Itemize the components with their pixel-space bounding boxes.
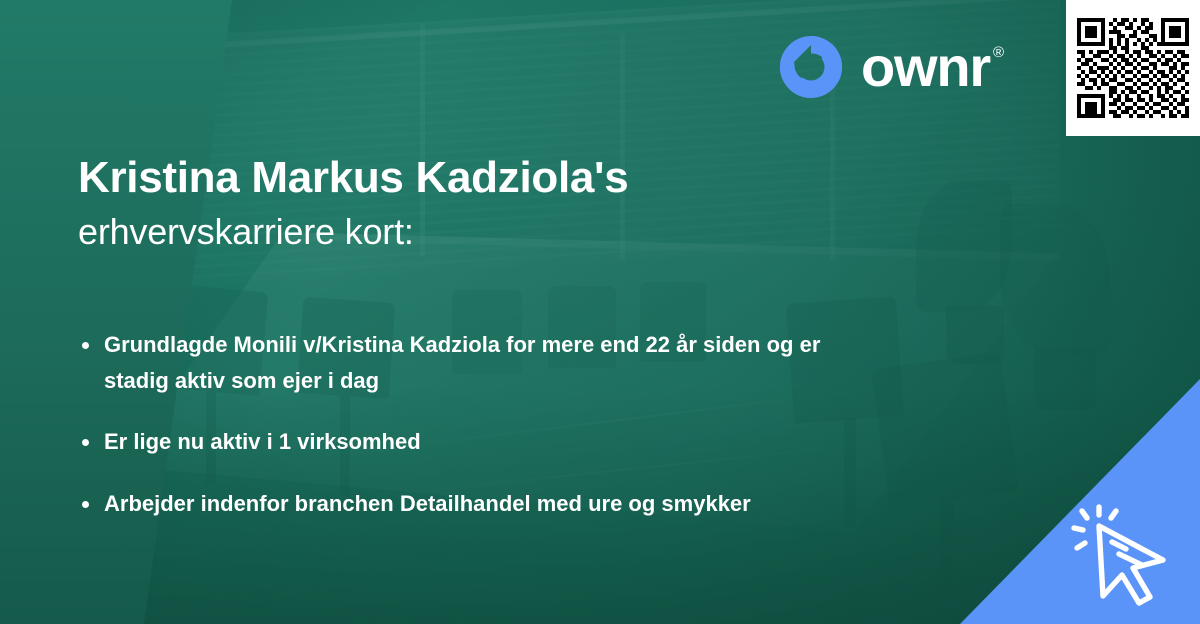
ownr-logo: ownr ® xyxy=(778,34,1004,100)
list-item-label: Arbejder indenfor branchen Detailhandel … xyxy=(104,491,751,516)
page-subtitle: erhvervskarriere kort: xyxy=(78,210,1058,253)
qr-code[interactable] xyxy=(1077,12,1189,124)
ownr-wordmark: ownr ® xyxy=(861,39,1004,95)
page-title: Kristina Markus Kadziola's xyxy=(78,152,1058,204)
registered-trademark-icon: ® xyxy=(993,45,1004,60)
career-summary-list: Grundlagde Monili v/Kristina Kadziola fo… xyxy=(78,327,1058,522)
list-item-label: Grundlagde Monili v/Kristina Kadziola fo… xyxy=(104,332,820,393)
ownr-circle-slash-logo xyxy=(778,34,844,100)
list-item: Arbejder indenfor branchen Detailhandel … xyxy=(78,486,844,522)
list-item-label: Er lige nu aktiv i 1 virksomhed xyxy=(104,429,421,454)
qr-code-panel[interactable] xyxy=(1066,0,1200,136)
list-item: Er lige nu aktiv i 1 virksomhed xyxy=(78,424,844,460)
card-content: Kristina Markus Kadziola's erhvervskarri… xyxy=(78,152,1058,522)
list-item: Grundlagde Monili v/Kristina Kadziola fo… xyxy=(78,327,844,398)
bullet-dot-icon xyxy=(82,501,89,508)
bullet-dot-icon xyxy=(82,439,89,446)
brand-name: ownr xyxy=(861,39,990,95)
bullet-dot-icon xyxy=(82,342,89,349)
click-cursor-icon xyxy=(1070,502,1186,614)
ownr-business-card: ownr ® Kristina Markus Kadziola's erhver… xyxy=(0,0,1200,624)
